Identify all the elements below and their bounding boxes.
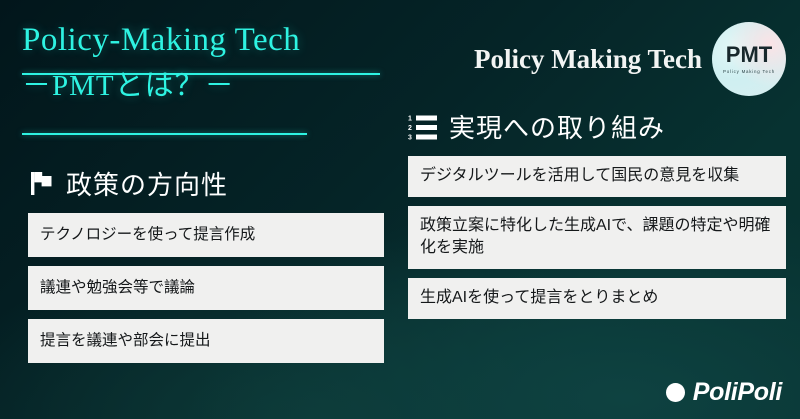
list-item: 提言を議連や部会に提出: [28, 319, 384, 363]
column-initiatives: 1 2 3 実現への取り組み デジタルツールを活用して国民の意見を収集 政策立案…: [408, 108, 786, 328]
brand-header: Policy Making Tech PMT Policy Making Tec…: [474, 22, 786, 96]
title-block: Policy-Making Tech: [22, 22, 382, 60]
numbered-list-icon: 1 2 3: [408, 113, 438, 141]
column-policy-direction: 政策の方向性 テクノロジーを使って提言作成 議連や勉強会等で議論 提言を議連や部…: [28, 165, 384, 372]
page-subtitle: －PMTとは？－: [22, 62, 235, 104]
list-item: 生成AIを使って提言をとりまとめ: [408, 278, 786, 319]
list-item: 議連や勉強会等で議論: [28, 266, 384, 310]
flag-icon: [28, 170, 55, 197]
pmt-logo-subtext: Policy Making Tech: [723, 69, 775, 74]
list-item: デジタルツールを活用して国民の意見を収集: [408, 156, 786, 197]
list-item: 政策立案に特化した生成AIで、課題の特定や明確化を実施: [408, 206, 786, 269]
title-rule-bottom: [22, 133, 307, 135]
polipoli-dot-icon: [666, 383, 685, 402]
pmt-logo: PMT Policy Making Tech: [712, 22, 786, 96]
section-title-initiatives: 実現への取り組み: [449, 108, 665, 145]
page-title: Policy-Making Tech: [22, 22, 382, 60]
section-header-policy-direction: 政策の方向性: [28, 165, 384, 202]
slide-canvas: Policy-Making Tech －PMTとは？－ Policy Makin…: [0, 0, 800, 419]
svg-text:1: 1: [408, 115, 412, 122]
pmt-logo-text: PMT: [726, 44, 772, 66]
polipoli-logo-text: PoliPoli: [693, 378, 782, 407]
polipoli-logo: PoliPoli: [666, 378, 782, 407]
brand-name: Policy Making Tech: [474, 44, 702, 75]
svg-text:3: 3: [408, 134, 412, 141]
list-item: テクノロジーを使って提言作成: [28, 213, 384, 257]
svg-text:2: 2: [408, 125, 412, 132]
section-header-initiatives: 1 2 3 実現への取り組み: [408, 108, 786, 145]
section-title-policy-direction: 政策の方向性: [66, 165, 228, 202]
